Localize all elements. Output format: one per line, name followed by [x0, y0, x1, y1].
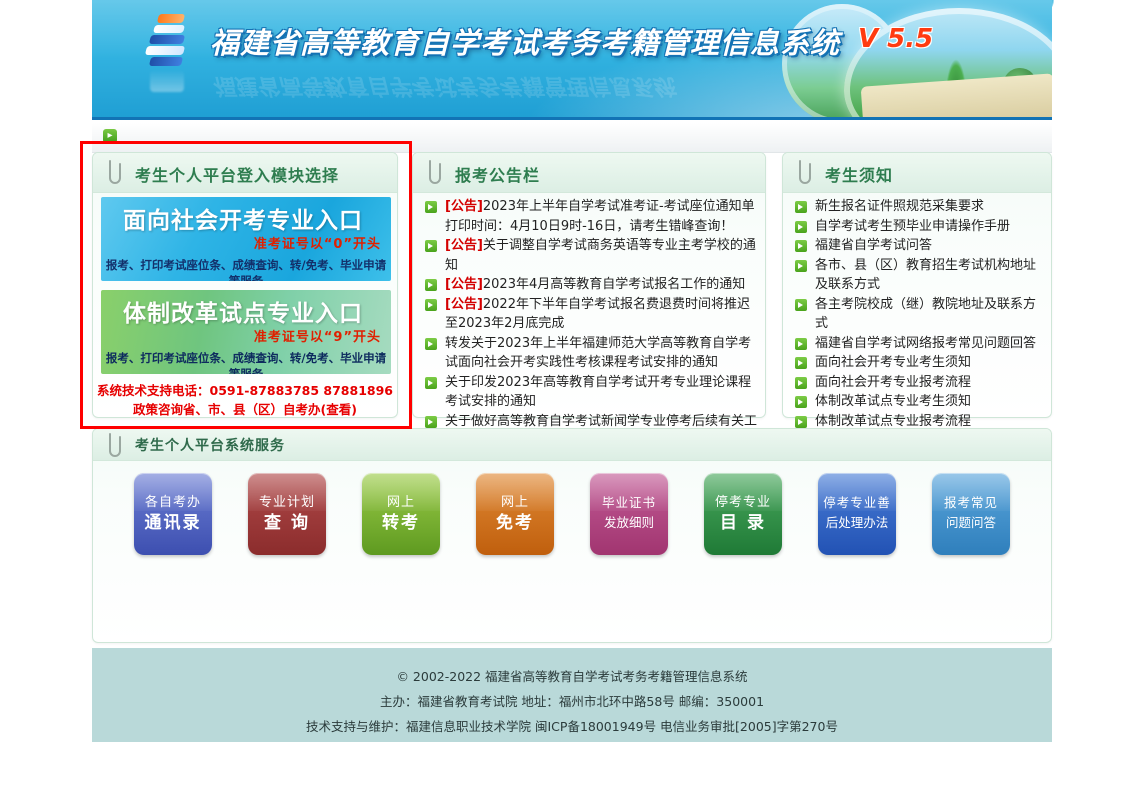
page-root: 福建省高等教育自学考试考务考籍管理信息系统 V 5.5 福建省高等教育自学考试考… — [0, 0, 1134, 790]
list-item[interactable]: 面向社会开考专业考生须知 — [793, 353, 1043, 373]
arrow-bullet-icon — [795, 260, 807, 272]
arrow-bullet-icon — [795, 377, 807, 389]
announcement-text[interactable]: 2023年4月高等教育自学考试报名工作的通知 — [483, 277, 745, 292]
guide-text[interactable]: 面向社会开考专业报考流程 — [815, 375, 971, 390]
announcement-panel-title: 报考公告栏 — [455, 162, 540, 186]
site-banner: 福建省高等教育自学考试考务考籍管理信息系统 V 5.5 福建省高等教育自学考试考… — [92, 0, 1052, 120]
arrow-bullet-icon — [425, 377, 437, 389]
guide-text[interactable]: 体制改革试点专业考生须知 — [815, 394, 971, 409]
list-item[interactable]: 福建省自学考试问答 — [793, 236, 1043, 256]
arrow-bullet-icon — [425, 240, 437, 252]
announcement-tag: [公告] — [445, 238, 483, 253]
arrow-bullet-icon — [795, 396, 807, 408]
announcement-text[interactable]: 关于调整自学考试商务英语等专业主考学校的通知 — [445, 238, 756, 273]
services-panel-header: 考生个人平台系统服务 — [93, 429, 1051, 461]
nav-strip: ▸ — [92, 123, 1052, 153]
arrow-bullet-icon — [425, 279, 437, 291]
guide-text[interactable]: 面向社会开考专业考生须知 — [815, 355, 971, 370]
services-panel-title: 考生个人平台系统服务 — [135, 435, 285, 455]
guide-text[interactable]: 新生报名证件照规范采集要求 — [815, 199, 984, 214]
entry-description: 报考、打印考试座位条、成绩查询、转/免考、毕业申请等服务 — [101, 257, 391, 281]
arrow-bullet-icon — [425, 201, 437, 213]
arrow-bullet-icon — [425, 416, 437, 428]
arrow-bullet-icon — [425, 338, 437, 350]
arrow-bullet-icon — [795, 357, 807, 369]
page-footer: © 2002-2022 福建省高等教育自学考试考务考籍管理信息系统 主办：福建省… — [92, 648, 1052, 742]
list-item[interactable]: 体制改革试点专业考生须知 — [793, 392, 1043, 412]
green-arrow-icon[interactable]: ▸ — [103, 129, 117, 143]
support-phone: 系统技术支持电话：0591-87883785 87881896 — [93, 381, 397, 400]
banner-version: V 5.5 — [858, 24, 933, 54]
guide-text[interactable]: 体制改革试点专业报考流程 — [815, 414, 971, 429]
service-line1: 专业计划 — [259, 494, 315, 512]
list-item[interactable]: 福建省自学考试网络报考常见问题回答 — [793, 334, 1043, 354]
announcement-text[interactable]: 2023年上半年自学考试准考证-考试座位通知单打印时间：4月10日9时-16日，… — [445, 199, 755, 234]
arrow-bullet-icon — [425, 299, 437, 311]
service-line2: 目 录 — [720, 512, 766, 534]
entry-subtitle: 准考证号以“0”开头 — [254, 233, 381, 252]
service-button-online-transfer[interactable]: 网上 转考 — [362, 473, 440, 555]
service-line2: 问题问答 — [946, 512, 996, 534]
arrow-bullet-icon — [795, 221, 807, 233]
guide-text[interactable]: 各主考院校成（继）教院地址及联系方式 — [815, 297, 1036, 332]
policy-consult-link[interactable]: 政策咨询省、市、县（区）自考办(查看) — [93, 400, 397, 419]
service-button-major-plan[interactable]: 专业计划 查 询 — [248, 473, 326, 555]
service-line1: 各自考办 — [145, 494, 201, 512]
paperclip-icon — [105, 158, 125, 188]
sprout-icon — [945, 59, 967, 103]
announcement-text[interactable]: 2022年下半年自学考试报名费退费时间将推迟至2023年2月底完成 — [445, 297, 750, 332]
service-line2: 查 询 — [264, 512, 310, 534]
guide-panel-title: 考生须知 — [825, 162, 893, 186]
announcement-panel: 报考公告栏 [公告]2023年上半年自学考试准考证-考试座位通知单打印时间：4月… — [412, 152, 766, 418]
list-item[interactable]: 新生报名证件照规范采集要求 — [793, 197, 1043, 217]
entry-description: 报考、打印考试座位条、成绩查询、转/免考、毕业申请等服务 — [101, 350, 391, 374]
footer-support: 技术支持与维护：福建信息职业技术学院 闽ICP备18001949号 电信业务审批… — [92, 714, 1052, 739]
list-item[interactable]: [公告]2023年上半年自学考试准考证-考试座位通知单打印时间：4月10日9时-… — [423, 197, 757, 236]
arrow-bullet-icon — [795, 240, 807, 252]
entry-reform-pilot-major[interactable]: 体制改革试点专业入口 准考证号以“9”开头 报考、打印考试座位条、成绩查询、转/… — [101, 290, 391, 374]
list-item[interactable]: 转发关于2023年上半年福建师范大学高等教育自学考试面向社会开考实践性考核课程考… — [423, 334, 757, 373]
banner-title-reflection: 福建省高等教育自学考试考务考籍管理信息系统 — [212, 72, 674, 104]
service-line1: 网上 — [387, 494, 415, 512]
list-item[interactable]: 各市、县（区）教育招生考试机构地址及联系方式 — [793, 256, 1043, 295]
announcement-tag: [公告] — [445, 199, 483, 214]
service-line2: 免考 — [496, 512, 534, 534]
arrow-bullet-icon — [795, 299, 807, 311]
announcement-list: [公告]2023年上半年自学考试准考证-考试座位通知单打印时间：4月10日9时-… — [423, 197, 757, 451]
announcement-tag: [公告] — [445, 277, 483, 292]
service-line1: 报考常见 — [944, 494, 998, 512]
arrow-bullet-icon — [795, 338, 807, 350]
footer-organizer: 主办：福建省教育考试院 地址：福州市北环中路58号 邮编：350001 — [92, 689, 1052, 714]
list-item[interactable]: 自学考试考生预毕业申请操作手册 — [793, 217, 1043, 237]
list-item[interactable]: [公告]2023年4月高等教育自学考试报名工作的通知 — [423, 275, 757, 295]
service-line2: 后处理办法 — [826, 512, 889, 534]
entry-title: 面向社会开考专业入口 — [101, 201, 385, 235]
announcement-text[interactable]: 转发关于2023年上半年福建师范大学高等教育自学考试面向社会开考实践性考核课程考… — [445, 336, 751, 371]
guide-text[interactable]: 福建省自学考试问答 — [815, 238, 932, 253]
fujian-s-logo-icon — [140, 12, 198, 90]
service-button-row: 各自考办 通讯录 专业计划 查 询 网上 转考 网上 免考 毕业证书 发放细则 … — [93, 473, 1051, 555]
service-button-contacts[interactable]: 各自考办 通讯录 — [134, 473, 212, 555]
service-line1: 停考专业善 — [823, 494, 891, 512]
list-item[interactable]: 面向社会开考专业报考流程 — [793, 373, 1043, 393]
service-button-suspended-majors[interactable]: 停考专业 目 录 — [704, 473, 782, 555]
entry-subtitle: 准考证号以“9”开头 — [254, 326, 381, 345]
tree-icon — [1003, 68, 1037, 102]
service-line2: 转考 — [382, 512, 420, 534]
guide-text[interactable]: 福建省自学考试网络报考常见问题回答 — [815, 336, 1036, 351]
service-button-faq[interactable]: 报考常见 问题问答 — [932, 473, 1010, 555]
login-module-panel: 考生个人平台登入模块选择 面向社会开考专业入口 准考证号以“0”开头 报考、打印… — [92, 152, 398, 418]
list-item[interactable]: [公告]2022年下半年自学考试报名费退费时间将推迟至2023年2月底完成 — [423, 295, 757, 334]
support-info: 系统技术支持电话：0591-87883785 87881896 政策咨询省、市、… — [93, 381, 397, 419]
arrow-bullet-icon — [795, 416, 807, 428]
list-item[interactable]: 关于印发2023年高等教育自学考试开考专业理论课程考试安排的通知 — [423, 373, 757, 412]
login-panel-header: 考生个人平台登入模块选择 — [93, 153, 397, 193]
service-line1: 停考专业 — [715, 494, 771, 512]
service-button-diploma-rules[interactable]: 毕业证书 发放细则 — [590, 473, 668, 555]
service-button-suspended-handling[interactable]: 停考专业善 后处理办法 — [818, 473, 896, 555]
guide-list: 新生报名证件照规范采集要求 自学考试考生预毕业申请操作手册 福建省自学考试问答 … — [793, 197, 1043, 431]
service-line1: 毕业证书 — [602, 494, 656, 512]
service-line2: 发放细则 — [604, 512, 654, 534]
footer-copyright: © 2002-2022 福建省高等教育自学考试考务考籍管理信息系统 — [92, 664, 1052, 689]
entry-title: 体制改革试点专业入口 — [101, 294, 385, 328]
arrow-bullet-icon — [795, 201, 807, 213]
announcement-tag: [公告] — [445, 297, 483, 312]
paperclip-icon — [795, 158, 815, 188]
service-line1: 网上 — [501, 494, 529, 512]
guide-text[interactable]: 各市、县（区）教育招生考试机构地址及联系方式 — [815, 258, 1036, 293]
guide-panel-header: 考生须知 — [783, 153, 1051, 193]
candidate-notice-panel: 考生须知 新生报名证件照规范采集要求 自学考试考生预毕业申请操作手册 福建省自学… — [782, 152, 1052, 418]
paperclip-icon — [425, 158, 445, 188]
entry-social-major[interactable]: 面向社会开考专业入口 准考证号以“0”开头 报考、打印考试座位条、成绩查询、转/… — [101, 197, 391, 281]
services-panel: 考生个人平台系统服务 各自考办 通讯录 专业计划 查 询 网上 转考 网上 免考… — [92, 428, 1052, 643]
list-item[interactable]: 各主考院校成（继）教院地址及联系方式 — [793, 295, 1043, 334]
announcement-text[interactable]: 关于印发2023年高等教育自学考试开考专业理论课程考试安排的通知 — [445, 375, 751, 410]
paperclip-icon — [105, 431, 125, 461]
guide-text[interactable]: 自学考试考生预毕业申请操作手册 — [815, 219, 1010, 234]
banner-title: 福建省高等教育自学考试考务考籍管理信息系统 — [210, 20, 840, 62]
service-line2: 通讯录 — [145, 512, 202, 534]
service-button-online-exemption[interactable]: 网上 免考 — [476, 473, 554, 555]
announcement-panel-header: 报考公告栏 — [413, 153, 765, 193]
login-panel-title: 考生个人平台登入模块选择 — [135, 162, 339, 186]
list-item[interactable]: [公告]关于调整自学考试商务英语等专业主考学校的通知 — [423, 236, 757, 275]
